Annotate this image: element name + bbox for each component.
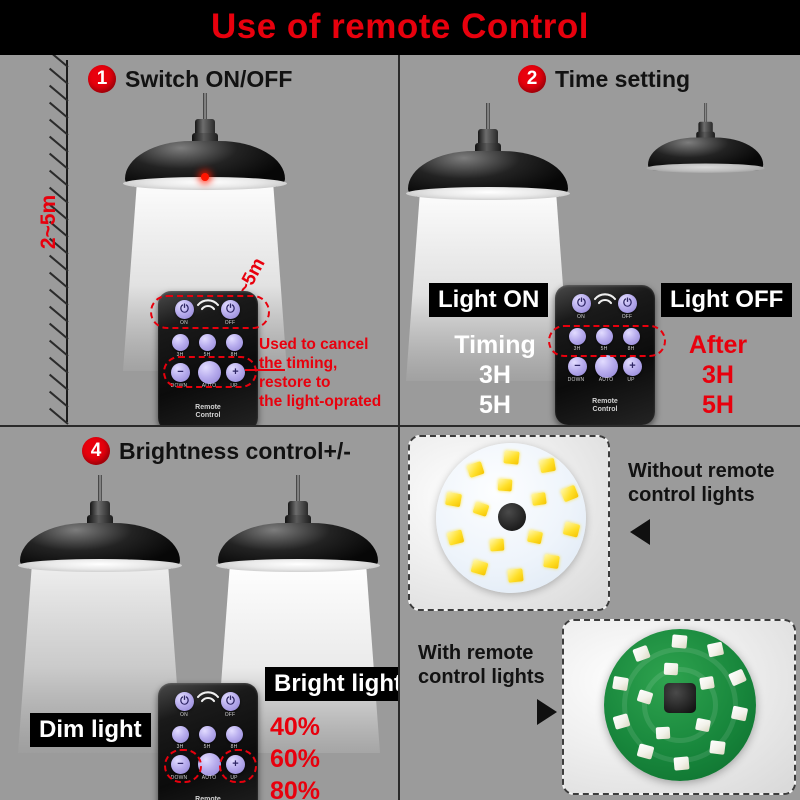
panel-timer-title: Time setting bbox=[555, 66, 690, 93]
led-chip bbox=[637, 743, 655, 759]
page-title: Use of remote Control bbox=[0, 4, 800, 50]
led-chip bbox=[466, 461, 484, 478]
without-line-1: Without remote bbox=[628, 459, 774, 483]
light-off-tag: Light OFF bbox=[661, 283, 792, 317]
after-8h: 8H bbox=[658, 420, 778, 427]
remote-up-button[interactable]: + bbox=[623, 357, 642, 376]
note-line-1: Used to cancel bbox=[259, 335, 381, 354]
pointer-left-icon bbox=[630, 519, 650, 545]
remote-timer-8h-button[interactable] bbox=[226, 334, 243, 351]
ir-receiver bbox=[664, 683, 696, 713]
led-chip bbox=[664, 663, 679, 676]
remote-off-label: OFF bbox=[614, 314, 640, 320]
led-chip bbox=[498, 479, 513, 492]
power-icon: ⏻ bbox=[226, 696, 235, 707]
lamp-indicator-led bbox=[201, 173, 209, 181]
step-badge-2: 2 bbox=[518, 65, 546, 93]
remote-timer-8h-button[interactable] bbox=[226, 726, 243, 743]
led-chip bbox=[527, 530, 543, 545]
photo-without-remote-board bbox=[408, 435, 610, 611]
remote-5h-label: 5H bbox=[194, 744, 220, 750]
remote-timer-5h-button[interactable] bbox=[199, 726, 216, 743]
panel-switch-heading: 1 Switch ON/OFF bbox=[88, 65, 292, 93]
brightness-levels: 40% 60% 80% 100% bbox=[270, 711, 390, 800]
led-chip bbox=[612, 676, 629, 691]
highlight-timer-row bbox=[548, 325, 666, 357]
led-chip bbox=[709, 740, 725, 755]
after-heading: After bbox=[658, 330, 778, 360]
led-chip bbox=[671, 634, 687, 648]
power-icon: ⏻ bbox=[623, 298, 632, 309]
led-chip bbox=[673, 756, 689, 770]
panel-brightness: 4 Brightness control+/- bbox=[0, 427, 400, 800]
power-icon: ⏻ bbox=[180, 696, 189, 707]
timing-8h: 8H bbox=[425, 420, 565, 427]
led-chip bbox=[699, 676, 715, 690]
led-chip bbox=[490, 539, 505, 552]
led-chip bbox=[472, 501, 489, 517]
lamp-rim bbox=[406, 187, 570, 200]
led-chip bbox=[543, 554, 560, 569]
level-60: 60% bbox=[270, 743, 390, 775]
remote-on-label: ON bbox=[568, 314, 594, 320]
remote-timer-3h-button[interactable] bbox=[172, 726, 189, 743]
led-chip bbox=[507, 568, 523, 582]
note-line-2: the timing, bbox=[259, 354, 381, 373]
panel-led-boards: Without remote control lights bbox=[400, 427, 800, 800]
timing-3h: 3H bbox=[425, 360, 565, 390]
led-chip bbox=[447, 529, 465, 545]
timing-stack: Timing 3H 5H 8H bbox=[425, 330, 565, 427]
board-center-hub bbox=[498, 503, 526, 531]
level-80: 80% bbox=[270, 775, 390, 800]
highlight-power-row bbox=[150, 295, 270, 329]
remote-power-off-button[interactable]: ⏻ bbox=[221, 692, 240, 711]
pointer-right-icon bbox=[537, 699, 557, 725]
led-chip bbox=[560, 485, 579, 503]
remote-timer-3h-button[interactable] bbox=[172, 334, 189, 351]
led-chip bbox=[503, 450, 519, 464]
led-chip bbox=[707, 642, 724, 658]
timing-5h: 5H bbox=[425, 390, 565, 420]
panel-switch-onoff: 1 Switch ON/OFF /*hatch filled below*/ 2… bbox=[0, 55, 400, 427]
with-line-1: With remote bbox=[418, 641, 545, 665]
with-line-2: control lights bbox=[418, 665, 545, 689]
led-chip bbox=[470, 559, 488, 576]
remote-timer-5h-button[interactable] bbox=[199, 334, 216, 351]
note-line-3: restore to bbox=[259, 373, 381, 392]
remote-off-label: OFF bbox=[217, 712, 243, 718]
cancel-timing-note: Used to cancel the timing, restore to th… bbox=[259, 335, 381, 411]
panel-grid: 1 Switch ON/OFF /*hatch filled below*/ 2… bbox=[0, 55, 800, 800]
led-chip bbox=[563, 521, 581, 537]
wall-hatch: /*hatch filled below*/ 2~5m bbox=[30, 60, 74, 422]
panel-timer-heading: 2 Time setting bbox=[518, 65, 690, 93]
photo-with-remote-board bbox=[562, 619, 796, 795]
remote-brand-line1: Remote bbox=[158, 796, 258, 800]
after-stack: After 3H 5H 8H bbox=[658, 330, 778, 427]
wall-distance-label: 2~5m bbox=[37, 182, 61, 262]
without-remote-label: Without remote control lights bbox=[628, 459, 774, 507]
after-3h: 3H bbox=[658, 360, 778, 390]
light-on-tag: Light ON bbox=[429, 283, 548, 317]
title-bar: Use of remote Control bbox=[0, 0, 800, 55]
dim-light-tag: Dim light bbox=[30, 713, 151, 747]
bright-light-tag: Bright light bbox=[265, 667, 400, 701]
remote-auto-label: AUTO bbox=[196, 775, 222, 781]
plus-icon: + bbox=[629, 361, 635, 372]
remote-power-off-button[interactable]: ⏻ bbox=[618, 294, 637, 313]
with-remote-label: With remote control lights bbox=[418, 641, 545, 689]
note-line-4: the light-oprated bbox=[259, 392, 381, 411]
after-5h: 5H bbox=[658, 390, 778, 420]
step-badge-4: 4 bbox=[82, 437, 110, 465]
panel-brightness-title: Brightness control+/- bbox=[119, 438, 351, 465]
led-chip bbox=[531, 492, 547, 506]
panel-switch-title: Switch ON/OFF bbox=[125, 66, 292, 93]
remote-wifi-icon bbox=[195, 689, 221, 703]
remote-on-label: ON bbox=[171, 712, 197, 718]
lamp-rim bbox=[216, 559, 380, 572]
led-board-white bbox=[436, 443, 586, 593]
highlight-down-button bbox=[164, 749, 202, 783]
lamp-rim bbox=[18, 559, 182, 572]
led-chip bbox=[695, 718, 711, 732]
highlight-auto-row bbox=[163, 356, 257, 388]
remote-down-button[interactable]: − bbox=[568, 357, 587, 376]
remote-wifi-icon bbox=[592, 291, 618, 305]
remote-auto-label: AUTO bbox=[593, 377, 619, 383]
lamp-rim bbox=[647, 163, 765, 172]
remote-brand-line2: Control bbox=[158, 412, 258, 421]
step-badge-1: 1 bbox=[88, 65, 116, 93]
panel-brightness-heading: 4 Brightness control+/- bbox=[82, 437, 351, 465]
highlight-up-button bbox=[219, 749, 257, 783]
remote-power-on-button[interactable]: ⏻ bbox=[175, 692, 194, 711]
led-chip bbox=[731, 706, 748, 722]
timing-heading: Timing bbox=[425, 330, 565, 360]
level-40: 40% bbox=[270, 711, 390, 743]
without-line-2: control lights bbox=[628, 483, 774, 507]
remote-brand-line2: Control bbox=[555, 406, 655, 415]
minus-icon: − bbox=[574, 361, 580, 372]
remote-auto-button[interactable] bbox=[595, 355, 618, 378]
remote-down-label: DOWN bbox=[563, 377, 589, 383]
remote-power-on-button[interactable]: ⏻ bbox=[572, 294, 591, 313]
led-board-green bbox=[604, 629, 756, 781]
infographic-page: Use of remote Control 1 Switch ON/OFF /*… bbox=[0, 0, 800, 800]
led-chip bbox=[445, 492, 462, 507]
panel-time-setting: 2 Time setting bbox=[400, 55, 800, 427]
remote-up-label: UP bbox=[618, 377, 644, 383]
led-chip bbox=[656, 727, 671, 740]
led-chip bbox=[539, 458, 556, 473]
power-icon: ⏻ bbox=[577, 298, 586, 309]
